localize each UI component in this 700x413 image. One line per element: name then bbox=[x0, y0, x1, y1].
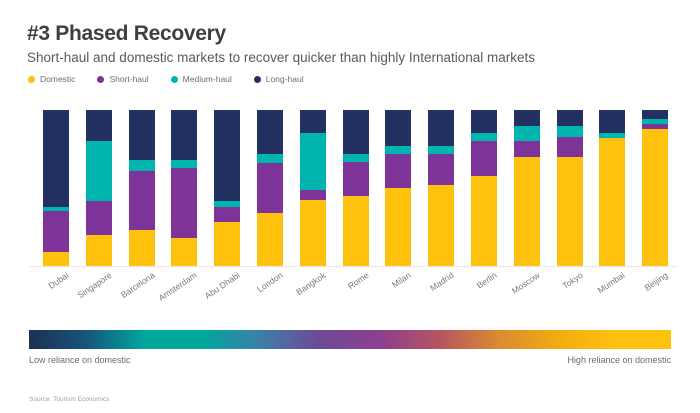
bar-segment-domestic bbox=[557, 157, 583, 266]
page-title: #3 Phased Recovery bbox=[27, 22, 226, 46]
bar-segment-long-haul bbox=[43, 110, 69, 207]
chart-plot-area bbox=[30, 110, 675, 266]
bar-segment-domestic bbox=[214, 222, 240, 266]
page-subtitle: Short-haul and domestic markets to recov… bbox=[27, 50, 535, 65]
bar-segment-domestic bbox=[599, 138, 625, 266]
bar-segment-domestic bbox=[300, 200, 326, 266]
bar-segment-domestic bbox=[86, 235, 112, 266]
bar-segment-long-haul bbox=[214, 110, 240, 200]
bar-segment-short-haul bbox=[428, 154, 454, 185]
source-note: Source: Tourism Economics bbox=[29, 396, 109, 403]
category-label-mumbai: Mumbai bbox=[596, 270, 627, 295]
bar-segment-short-haul bbox=[385, 154, 411, 188]
bar-tokyo[interactable] bbox=[557, 110, 583, 266]
bar-segment-long-haul bbox=[385, 110, 411, 146]
category-label-bangkok: Bangkok bbox=[294, 270, 327, 297]
bar-segment-medium-haul bbox=[300, 133, 326, 189]
bar-segment-long-haul bbox=[129, 110, 155, 160]
scale-label-high: High reliance on domestic bbox=[567, 355, 671, 365]
bar-segment-domestic bbox=[343, 196, 369, 266]
chart-legend: DomesticShort-haulMedium-haulLong-haul bbox=[28, 74, 326, 84]
bar-segment-short-haul bbox=[86, 201, 112, 235]
legend-item-medium-haul[interactable]: Medium-haul bbox=[171, 74, 232, 84]
category-label-moscow: Moscow bbox=[510, 270, 542, 296]
bar-segment-domestic bbox=[642, 129, 668, 266]
bar-madrid[interactable] bbox=[428, 110, 454, 266]
bar-segment-short-haul bbox=[171, 168, 197, 238]
bar-segment-long-haul bbox=[557, 110, 583, 126]
bar-segment-domestic bbox=[514, 157, 540, 266]
bar-segment-domestic bbox=[471, 176, 497, 266]
bar-rome[interactable] bbox=[343, 110, 369, 266]
bar-segment-medium-haul bbox=[171, 160, 197, 168]
bar-bangkok[interactable] bbox=[300, 110, 326, 266]
category-label-amsterdam: Amsterdam bbox=[157, 270, 199, 303]
bar-segment-domestic bbox=[257, 213, 283, 266]
bar-segment-medium-haul bbox=[257, 154, 283, 163]
legend-item-long-haul[interactable]: Long-haul bbox=[254, 74, 304, 84]
category-label-dubai: Dubai bbox=[46, 270, 70, 291]
legend-item-label: Short-haul bbox=[109, 74, 148, 84]
legend-dot-icon bbox=[171, 76, 178, 83]
bar-mumbai[interactable] bbox=[599, 110, 625, 266]
chart-baseline bbox=[30, 266, 678, 267]
bar-segment-domestic bbox=[171, 238, 197, 266]
bar-segment-long-haul bbox=[171, 110, 197, 160]
bar-beijing[interactable] bbox=[642, 110, 668, 266]
legend-item-short-haul[interactable]: Short-haul bbox=[97, 74, 148, 84]
bar-segment-long-haul bbox=[257, 110, 283, 154]
bar-barcelona[interactable] bbox=[129, 110, 155, 266]
bar-segment-short-haul bbox=[514, 141, 540, 157]
bar-london[interactable] bbox=[257, 110, 283, 266]
bar-segment-long-haul bbox=[599, 110, 625, 133]
legend-item-domestic[interactable]: Domestic bbox=[28, 74, 75, 84]
bar-segment-long-haul bbox=[343, 110, 369, 154]
bar-berlin[interactable] bbox=[471, 110, 497, 266]
legend-dot-icon bbox=[97, 76, 104, 83]
bar-segment-long-haul bbox=[514, 110, 540, 126]
bar-segment-medium-haul bbox=[514, 126, 540, 142]
bar-segment-medium-haul bbox=[428, 146, 454, 154]
category-label-milan: Milan bbox=[390, 270, 413, 290]
bar-amsterdam[interactable] bbox=[171, 110, 197, 266]
bar-singapore[interactable] bbox=[86, 110, 112, 266]
bar-segment-medium-haul bbox=[343, 154, 369, 162]
bar-dubai[interactable] bbox=[43, 110, 69, 266]
bar-segment-short-haul bbox=[300, 190, 326, 201]
reliance-scale-labels: Low reliance on domestic High reliance o… bbox=[29, 355, 671, 369]
category-label-abu-dhabi: Abu Dhabi bbox=[203, 270, 242, 301]
bar-segment-long-haul bbox=[471, 110, 497, 133]
reliance-scale: Low reliance on domestic High reliance o… bbox=[29, 330, 671, 369]
category-label-london: London bbox=[255, 270, 284, 294]
bar-segment-medium-haul bbox=[385, 146, 411, 154]
bar-segment-short-haul bbox=[214, 207, 240, 223]
legend-item-label: Medium-haul bbox=[183, 74, 232, 84]
bar-segment-long-haul bbox=[300, 110, 326, 133]
bar-segment-short-haul bbox=[257, 163, 283, 213]
category-label-beijing: Beijing bbox=[643, 270, 670, 293]
legend-dot-icon bbox=[28, 76, 35, 83]
bar-segment-short-haul bbox=[557, 137, 583, 157]
bar-segment-medium-haul bbox=[471, 133, 497, 141]
chart-category-axis: DubaiSingaporeBarcelonaAmsterdamAbu Dhab… bbox=[30, 270, 680, 320]
category-label-barcelona: Barcelona bbox=[119, 270, 157, 300]
legend-item-label: Long-haul bbox=[266, 74, 304, 84]
bar-segment-long-haul bbox=[642, 110, 668, 119]
bar-segment-domestic bbox=[385, 188, 411, 266]
category-label-madrid: Madrid bbox=[428, 270, 455, 293]
category-label-rome: Rome bbox=[346, 270, 371, 291]
bar-segment-short-haul bbox=[129, 171, 155, 230]
bar-segment-short-haul bbox=[343, 162, 369, 196]
bar-segment-medium-haul bbox=[86, 141, 112, 200]
bar-segment-domestic bbox=[43, 252, 69, 266]
bar-milan[interactable] bbox=[385, 110, 411, 266]
bar-segment-short-haul bbox=[471, 141, 497, 175]
bar-segment-long-haul bbox=[428, 110, 454, 146]
category-label-singapore: Singapore bbox=[75, 270, 113, 300]
scale-label-low: Low reliance on domestic bbox=[29, 355, 131, 365]
slide-canvas: #3 Phased Recovery Short-haul and domest… bbox=[0, 0, 700, 413]
legend-item-label: Domestic bbox=[40, 74, 75, 84]
bar-abu-dhabi[interactable] bbox=[214, 110, 240, 266]
bar-segment-medium-haul bbox=[557, 126, 583, 137]
bar-segment-long-haul bbox=[86, 110, 112, 141]
legend-dot-icon bbox=[254, 76, 261, 83]
category-label-tokyo: Tokyo bbox=[560, 270, 584, 291]
bar-segment-short-haul bbox=[43, 211, 69, 252]
bar-moscow[interactable] bbox=[514, 110, 540, 266]
bar-segment-domestic bbox=[428, 185, 454, 266]
reliance-gradient-bar bbox=[29, 330, 671, 349]
category-label-berlin: Berlin bbox=[475, 270, 499, 291]
bar-segment-domestic bbox=[129, 230, 155, 266]
bar-segment-medium-haul bbox=[129, 160, 155, 171]
